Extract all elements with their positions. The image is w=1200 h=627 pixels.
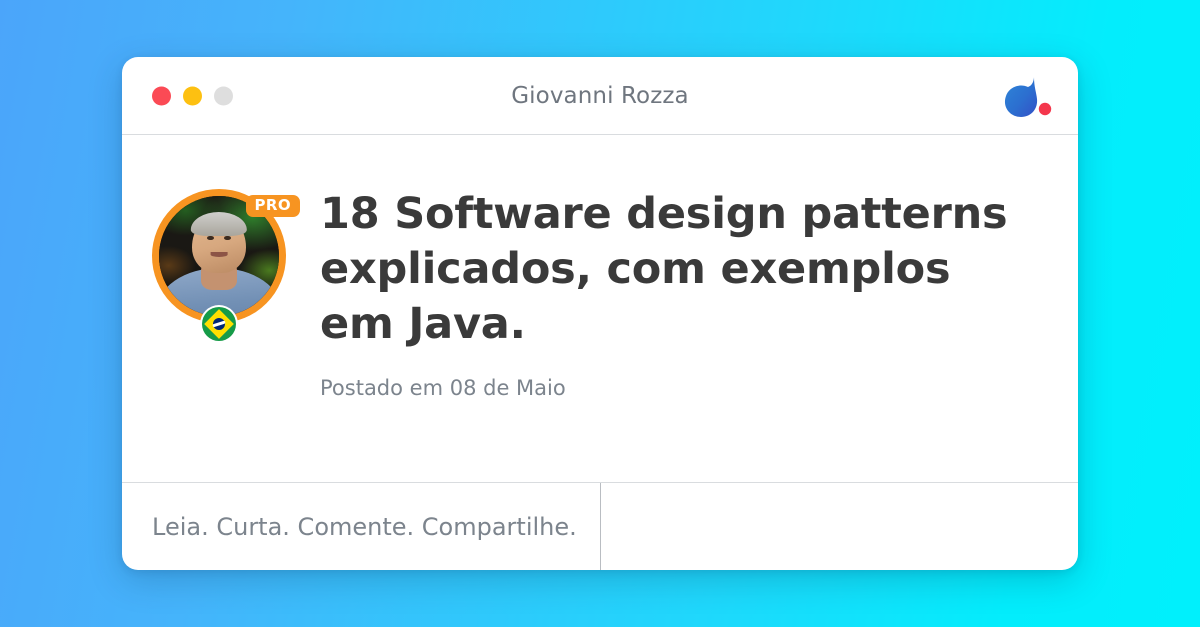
post-text-block: 18 Software design patterns explicados, … [320,187,1038,400]
window-card: Giovanni Rozza [122,57,1078,570]
minimize-button[interactable] [183,86,202,105]
window-title-bar: Giovanni Rozza [122,57,1078,135]
brand-logo-icon [996,71,1058,121]
footer-tagline: Leia. Curta. Comente. Compartilhe. [152,513,577,541]
card-footer: Leia. Curta. Comente. Compartilhe. [122,482,1078,570]
footer-left-cell: Leia. Curta. Comente. Compartilhe. [122,483,601,570]
avatar[interactable]: PRO [152,189,286,323]
post-title: 18 Software design patterns explicados, … [320,187,1020,352]
close-button[interactable] [152,86,171,105]
brazil-flag-icon [202,307,236,341]
post-date: Postado em 08 de Maio [320,376,1038,400]
maximize-button[interactable] [214,86,233,105]
pro-badge: PRO [246,195,301,217]
window-title: Giovanni Rozza [122,83,1078,109]
post-body: PRO 18 Software design patterns explicad… [122,135,1078,482]
footer-right-cell [601,483,1078,570]
traffic-light-buttons [152,86,233,105]
